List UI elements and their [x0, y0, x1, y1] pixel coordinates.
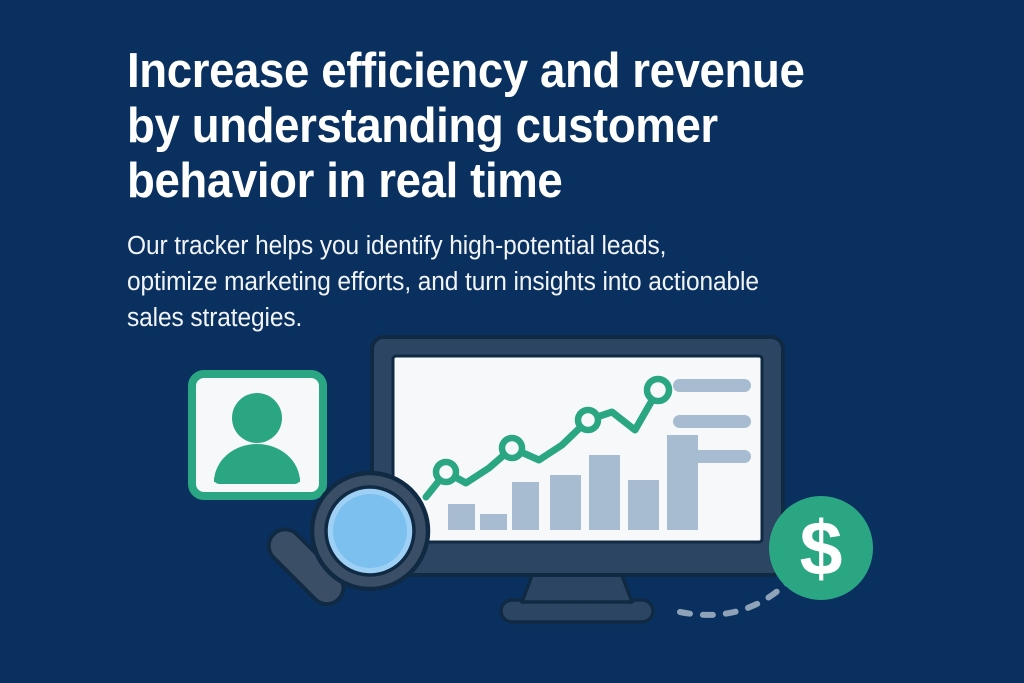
screen-legend-rows — [673, 379, 751, 463]
legend-row-2 — [673, 415, 751, 428]
bar-1 — [448, 504, 475, 530]
dashed-connector — [680, 580, 790, 615]
chart-marker-3 — [578, 410, 598, 430]
customer-profile-card — [192, 374, 323, 496]
dollar-coin: $ — [769, 496, 873, 600]
bar-6 — [628, 480, 659, 530]
illustration: $ — [0, 0, 1024, 683]
magnifier-lens — [333, 494, 407, 568]
hero-banner: Increase efficiency and revenue by under… — [0, 0, 1024, 683]
bar-3 — [512, 482, 539, 530]
monitor — [372, 337, 783, 622]
bar-7 — [667, 435, 698, 530]
legend-row-1 — [673, 379, 751, 392]
dollar-sign-icon: $ — [800, 506, 843, 592]
bar-4 — [550, 475, 581, 530]
legend-row-3 — [673, 450, 751, 463]
chart-marker-2 — [502, 438, 522, 458]
bar-5 — [589, 455, 620, 530]
bar-2 — [480, 514, 507, 530]
chart-marker-1 — [436, 462, 456, 482]
chart-marker-4 — [647, 379, 669, 401]
